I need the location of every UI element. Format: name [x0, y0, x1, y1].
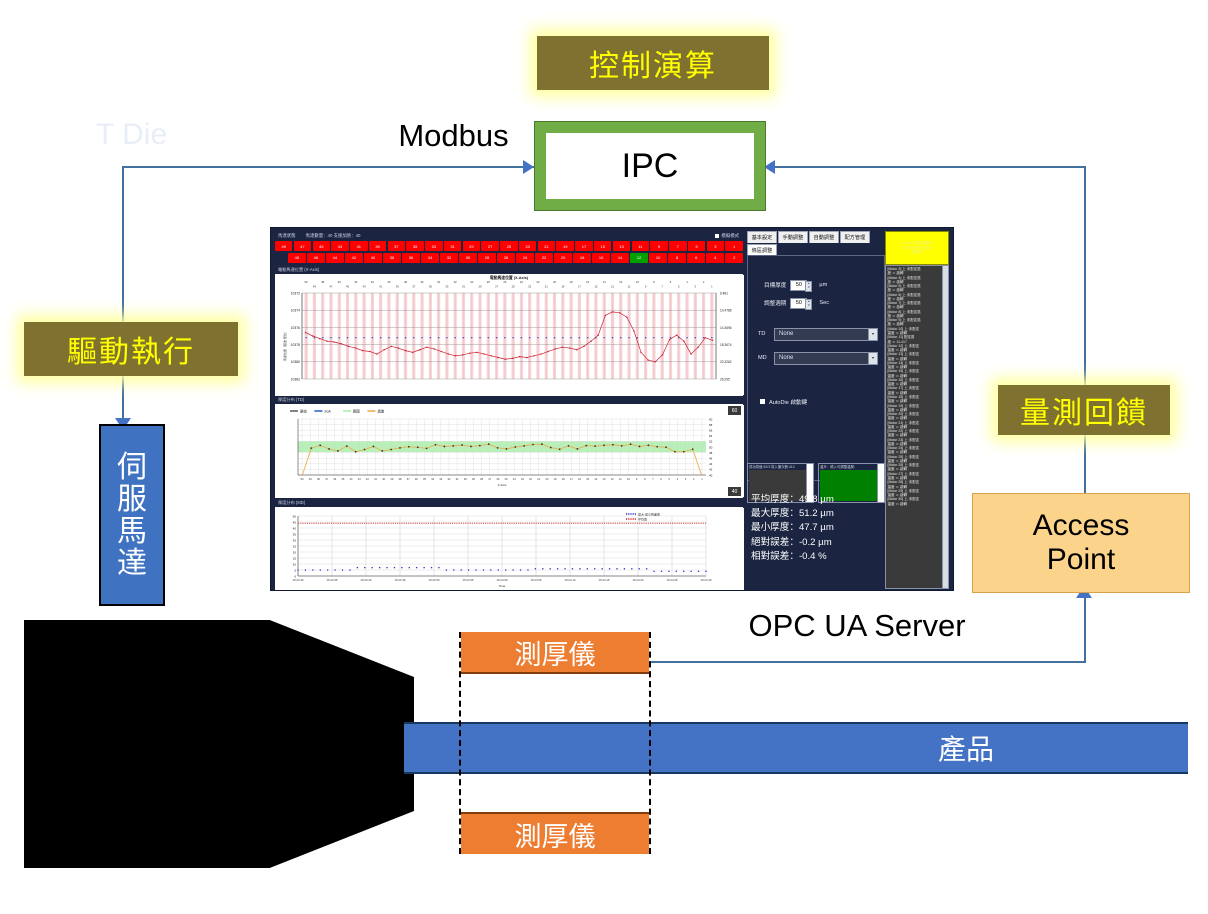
zone-cell[interactable]: 28 — [478, 253, 496, 263]
zone-cell[interactable]: 49 — [275, 241, 292, 251]
adjust-period-unit: Sec — [819, 300, 829, 306]
servo-char-4: 達 — [117, 548, 147, 580]
zone-cell[interactable]: 21 — [538, 241, 555, 251]
svg-text:15.23.30: 15.23.30 — [293, 578, 304, 582]
svg-text:58: 58 — [709, 423, 713, 427]
adjust-period-stepper[interactable]: ▲▼ — [805, 299, 812, 310]
zone-cell[interactable]: 44 — [326, 253, 344, 263]
zone-cell[interactable]: 39 — [369, 241, 386, 251]
ipc-box[interactable]: IPC — [534, 121, 766, 211]
tab-基本設定[interactable]: 基本設定 — [747, 231, 777, 243]
zone-cell[interactable]: 2 — [725, 253, 743, 263]
alarm-status-scrollbar[interactable] — [877, 464, 884, 502]
zone-cell[interactable]: 15 — [594, 241, 611, 251]
svg-text:10378: 10378 — [291, 343, 301, 347]
access-point-line-2: Point — [1047, 543, 1115, 577]
svg-text:45: 45 — [346, 284, 349, 288]
zone-cell[interactable]: 37 — [388, 241, 405, 251]
svg-text:11: 11 — [628, 284, 631, 288]
svg-text:49: 49 — [313, 284, 316, 288]
zone-cell[interactable]: 45 — [313, 241, 330, 251]
svg-text:10.4786: 10.4786 — [720, 308, 732, 312]
md-select[interactable]: None ▼ — [774, 352, 878, 365]
chart2-ymin-spinner[interactable]: 40 — [728, 487, 741, 496]
svg-text:29: 29 — [479, 284, 482, 288]
zone-cell[interactable]: 14 — [611, 253, 629, 263]
svg-text:15: 15 — [293, 556, 297, 560]
callout-measure-feedback: 量測回饋 — [998, 385, 1170, 435]
svg-text:25: 25 — [293, 544, 297, 548]
servo-char-1: 伺 — [117, 452, 147, 484]
svg-text:43: 43 — [363, 284, 366, 288]
zone-row-even: 4846444240383634323028262422201816141210… — [275, 253, 743, 263]
svg-text:最大-最小的差值: 最大-最小的差值 — [638, 511, 660, 516]
svg-text:33: 33 — [445, 284, 448, 288]
svg-text:範圍: 範圍 — [353, 408, 360, 413]
thickness-gauge-top[interactable]: 測厚儀 — [461, 632, 649, 674]
svg-text:X-Axis: X-Axis — [498, 483, 507, 487]
zone-cell[interactable]: 10 — [649, 253, 667, 263]
md-select-row[interactable]: MD None ▼ — [758, 352, 878, 365]
chart1-title: 電動馬達位置 (X-Axis) — [275, 265, 743, 274]
hmi-header-counts: 馬達數量：40 支援加熱：40 — [306, 233, 361, 239]
zone-cell[interactable]: 41 — [350, 241, 367, 251]
svg-text:42: 42 — [709, 468, 713, 472]
svg-text:35: 35 — [293, 532, 297, 536]
zone-cell[interactable]: 38 — [383, 253, 401, 263]
zone-cell[interactable]: 11 — [632, 241, 649, 251]
svg-text:18.3674: 18.3674 — [720, 343, 732, 347]
ipc-inner-panel: IPC — [546, 133, 754, 199]
callout-control-algorithm: 控制演算 — [537, 36, 769, 90]
svg-text:45: 45 — [293, 520, 297, 524]
zone-cell[interactable]: 26 — [497, 253, 515, 263]
svg-text:15.23.40: 15.23.40 — [361, 578, 372, 582]
svg-text:60: 60 — [709, 417, 713, 421]
zone-cell-grid: 4947454341393735333129272523211917151311… — [275, 240, 743, 265]
hmi-header-left-label: 馬達狀態 — [278, 233, 296, 239]
autodie-checkbox[interactable]: AutoDie 啟動鍵 — [760, 398, 807, 406]
hmi-application-window[interactable]: 馬達狀態 馬達數量：40 支援加熱：40 模擬模式 49474543413937… — [270, 227, 954, 591]
motor-position-chart[interactable]: 電動馬達位置 (X-Axis) 馬達位置（脈波 單位） 對應厚度差 103721… — [275, 274, 743, 396]
td-select-row[interactable]: TD None ▼ — [758, 328, 878, 341]
svg-text:44: 44 — [709, 462, 713, 466]
svg-text:19: 19 — [561, 284, 564, 288]
svg-text:21: 21 — [545, 284, 548, 288]
svg-text:15.24.05: 15.24.05 — [531, 578, 542, 582]
svg-text:10376: 10376 — [291, 325, 301, 329]
zone-cell[interactable]: 24 — [516, 253, 534, 263]
td-select[interactable]: None ▼ — [774, 328, 878, 341]
svg-text:48: 48 — [709, 451, 713, 455]
target-thickness-label: 目標厚度 — [764, 281, 786, 289]
svg-text:15.24.15: 15.24.15 — [599, 578, 610, 582]
svg-text:15.24.20: 15.24.20 — [633, 578, 644, 582]
svg-text:10382: 10382 — [291, 377, 301, 381]
zone-cell[interactable]: 30 — [459, 253, 477, 263]
svg-text:41: 41 — [379, 284, 382, 288]
connector-modbus-vertical — [122, 166, 124, 421]
svg-text:39: 39 — [396, 284, 399, 288]
chart2-plot: 原始SoA範圍過濾4042444648505254565860504948474… — [276, 405, 744, 497]
connector-modbus-horizontal — [122, 166, 534, 168]
statistic-line: 相對誤差：-0.4 % — [751, 550, 834, 564]
svg-text:35: 35 — [429, 284, 432, 288]
thickness-md-chart[interactable]: 0510152025303540455015.23.3015.23.3515.2… — [275, 507, 743, 592]
svg-text:10: 10 — [293, 562, 297, 566]
svg-text:15.24.10: 15.24.10 — [565, 578, 576, 582]
protocol-label-text: Modbus — [398, 118, 508, 154]
svg-text:22.3262: 22.3262 — [720, 360, 732, 364]
svg-text:30: 30 — [293, 538, 297, 542]
connector-opcua-vertical — [1084, 595, 1086, 661]
recipe-status-caption: 成功寫值 62/3 寫入筆次數:412 — [749, 464, 795, 469]
chart3-title: 厚度分布 (MD) — [275, 498, 743, 507]
svg-text:26.295: 26.295 — [720, 377, 730, 381]
zone-cell[interactable]: 46 — [307, 253, 325, 263]
alarm-status-caption: 溫升：燒入可調整溫層： — [820, 464, 857, 469]
chart1-ylabel: 馬達位置（脈波 單位） — [283, 330, 287, 361]
chart3-plot: 0510152025303540455015.23.3015.23.3515.2… — [276, 508, 744, 592]
svg-text:54: 54 — [709, 434, 713, 438]
zone-cell[interactable]: 29 — [463, 241, 480, 251]
zone-cell[interactable]: 22 — [535, 253, 553, 263]
zone-cell[interactable]: 36 — [402, 253, 420, 263]
svg-text:10372: 10372 — [291, 291, 301, 295]
zone-cell[interactable]: 23 — [519, 241, 536, 251]
gauge-label: 測厚儀 — [515, 815, 596, 854]
adjust-period-label: 調整週期 — [764, 299, 786, 307]
hmi-right-column: 基本設定手動調整自動調整配方管理條區調整 目標厚度 50 ▲▼ µm 調整週期 … — [747, 231, 949, 587]
svg-text:Time: Time — [499, 584, 506, 588]
zone-cell[interactable]: 47 — [294, 241, 311, 251]
chart2-ymax-spinner[interactable]: 60 — [728, 406, 741, 415]
autodie-notice-banner: AutoDie 模式啟動中 請勿切換其他頁面 請稍候 — [885, 231, 949, 265]
svg-text:52: 52 — [709, 440, 713, 444]
svg-text:15.23.50: 15.23.50 — [429, 578, 440, 582]
servo-char-2: 服 — [117, 484, 147, 516]
zone-cell[interactable]: 42 — [345, 253, 363, 263]
callout-label: 控制演算 — [589, 41, 717, 85]
zone-cell[interactable]: 12 — [630, 253, 648, 263]
svg-text:50: 50 — [293, 514, 297, 518]
thickness-td-chart[interactable]: 原始SoA範圍過濾4042444648505254565860504948474… — [275, 404, 743, 498]
svg-text:15.23.35: 15.23.35 — [327, 578, 338, 582]
td-label: TD — [758, 331, 770, 337]
target-thickness-unit: µm — [819, 282, 827, 288]
zone-cell[interactable]: 27 — [481, 241, 498, 251]
callout-drive-execution: 驅動執行 — [24, 322, 238, 376]
chevron-down-icon[interactable]: ▼ — [868, 353, 877, 364]
md-value: None — [779, 355, 793, 361]
svg-text:SoA: SoA — [324, 409, 331, 413]
hmi-left-column: 馬達狀態 馬達數量：40 支援加熱：40 模擬模式 49474543413937… — [275, 231, 743, 587]
zone-cell[interactable]: 4 — [706, 253, 724, 263]
zone-cell[interactable]: 17 — [575, 241, 592, 251]
simulation-mode-label: 模擬模式 — [721, 233, 739, 239]
svg-text:47: 47 — [329, 284, 332, 288]
zone-cell[interactable]: 32 — [440, 253, 458, 263]
statistic-line: 最大厚度：51.2 µm — [751, 507, 834, 521]
connector-feedback-horizontal — [775, 166, 1086, 168]
thickness-gauge-bottom[interactable]: 測厚儀 — [461, 812, 649, 854]
svg-text:10380: 10380 — [291, 360, 301, 364]
target-thickness-input[interactable]: 50 ▲▼ — [790, 280, 807, 291]
zone-cell[interactable]: 43 — [331, 241, 348, 251]
svg-text:31: 31 — [462, 284, 465, 288]
diagram-canvas: 控制演算 驅動執行 量測回饋 Modbus OPC UA Server IPC … — [0, 0, 1208, 914]
statistic-line: 最小厚度：47.7 µm — [751, 521, 834, 535]
zone-cell[interactable]: 20 — [554, 253, 572, 263]
target-thickness-field[interactable]: 目標厚度 50 ▲▼ µm — [764, 280, 827, 291]
gauge-label: 測厚儀 — [515, 633, 596, 672]
zone-cell[interactable]: 6 — [687, 253, 705, 263]
svg-text:37: 37 — [412, 284, 415, 288]
adjust-period-field[interactable]: 調整週期 50 ▲▼ Sec — [764, 298, 829, 309]
zone-cell[interactable]: 3 — [707, 241, 724, 251]
zone-row-odd: 4947454341393735333129272523211917151311… — [275, 241, 743, 251]
zone-cell[interactable]: 13 — [613, 241, 630, 251]
svg-text:40: 40 — [293, 526, 297, 530]
autodie-label: AutoDie 啟動鍵 — [769, 398, 807, 406]
svg-text:過濾: 過濾 — [377, 408, 384, 413]
zone-cell[interactable]: 48 — [288, 253, 306, 263]
zone-cell[interactable]: 25 — [500, 241, 517, 251]
ipc-label: IPC — [622, 147, 679, 186]
target-thickness-value: 50 — [796, 282, 802, 288]
adjust-period-input[interactable]: 50 ▲▼ — [790, 298, 807, 309]
connector-feedback-vertical — [1084, 166, 1086, 493]
servo-char-3: 馬 — [117, 516, 147, 548]
zone-cell[interactable]: 34 — [421, 253, 439, 263]
zone-cell[interactable]: 18 — [573, 253, 591, 263]
svg-text:原始: 原始 — [300, 408, 307, 413]
svg-text:13: 13 — [611, 284, 614, 288]
svg-text:6.481: 6.481 — [720, 291, 728, 295]
tab-自動調整[interactable]: 自動調整 — [809, 231, 839, 243]
chevron-down-icon[interactable]: ▼ — [868, 329, 877, 340]
svg-text:17: 17 — [578, 284, 581, 288]
chart2-ymax-value: 60 — [732, 408, 738, 414]
settings-tabstrip[interactable]: 基本設定手動調整自動調整配方管理條區調整 — [747, 231, 883, 256]
tab-配方管理[interactable]: 配方管理 — [840, 231, 870, 243]
callout-label: 量測回饋 — [1020, 388, 1148, 432]
connector-opcua-horizontal — [648, 661, 1086, 663]
product-label: 產品 — [938, 728, 994, 768]
zone-cell[interactable]: 40 — [364, 253, 382, 263]
zone-cell[interactable]: 7 — [669, 241, 686, 251]
svg-text:10374: 10374 — [291, 308, 301, 312]
label-opc-ua-server: OPC UA Server — [712, 605, 1002, 647]
zone-cell[interactable]: 19 — [556, 241, 573, 251]
svg-text:15: 15 — [594, 284, 597, 288]
td-value: None — [779, 331, 793, 337]
settings-panel: 目標厚度 50 ▲▼ µm 調整週期 50 ▲▼ Sec T — [747, 255, 885, 481]
checkbox-icon — [760, 399, 765, 404]
svg-text:56: 56 — [709, 429, 713, 433]
zone-cell[interactable]: 8 — [668, 253, 686, 263]
zone-cell[interactable]: 33 — [425, 241, 442, 251]
svg-text:40: 40 — [709, 473, 713, 477]
svg-text:23: 23 — [528, 284, 531, 288]
md-label: MD — [758, 355, 770, 361]
chart1-inner-title: 電動馬達位置 (X-Axis) — [276, 276, 742, 281]
label-modbus: Modbus — [366, 115, 541, 157]
protocol-label-text: OPC UA Server — [748, 608, 965, 644]
svg-text:15.23.55: 15.23.55 — [463, 578, 474, 582]
svg-text:25: 25 — [512, 284, 515, 288]
zone-cell[interactable]: 16 — [592, 253, 610, 263]
statistic-line: 平均厚度：49.8 µm — [751, 493, 834, 507]
svg-text:14.3696: 14.3696 — [720, 325, 732, 329]
statistic-line: 絕對誤差：-0.2 µm — [751, 536, 834, 550]
svg-text:50: 50 — [709, 445, 713, 449]
log-line: 溫度 ＝ 啟轉 — [886, 502, 948, 506]
access-point-box[interactable]: Access Point — [972, 493, 1190, 593]
svg-text:15.23.45: 15.23.45 — [395, 578, 406, 582]
svg-text:20: 20 — [293, 550, 297, 554]
chart2-ymin-value: 40 — [732, 489, 738, 495]
motor-log-lines: [Motor 3] 上 未配定區度 ＝ 啟轉[Motor 4] 上 未配定區度 … — [886, 266, 948, 506]
zone-cell[interactable]: 1 — [725, 241, 742, 251]
hmi-header-bar: 馬達狀態 馬達數量：40 支援加熱：40 模擬模式 — [275, 231, 743, 240]
t-die-shape — [24, 620, 414, 868]
tab-手動調整[interactable]: 手動調整 — [778, 231, 808, 243]
servo-motor-box[interactable]: 伺 服 馬 達 — [99, 424, 165, 606]
zone-cell[interactable]: 9 — [650, 241, 667, 251]
svg-text:15.24.30: 15.24.30 — [701, 578, 712, 582]
thickness-statistics: 平均厚度：49.8 µm最大厚度：51.2 µm最小厚度：47.7 µm絕對誤差… — [751, 493, 834, 564]
motor-event-log[interactable]: [Motor 3] 上 未配定區度 ＝ 啟轉[Motor 4] 上 未配定區度 … — [885, 265, 949, 589]
notice-line-3: 請稍候 — [912, 250, 923, 255]
simulation-mode-checkbox[interactable]: 模擬模式 — [715, 233, 743, 239]
checkbox-icon — [715, 234, 719, 238]
adjust-period-value: 50 — [796, 300, 802, 306]
svg-text:27: 27 — [495, 284, 498, 288]
access-point-line-1: Access — [1033, 509, 1130, 543]
svg-text:平均值: 平均值 — [638, 516, 647, 521]
zone-cell[interactable]: 35 — [406, 241, 423, 251]
svg-text:46: 46 — [709, 457, 713, 461]
t-die-label: T Die — [96, 118, 167, 152]
target-thickness-stepper[interactable]: ▲▼ — [805, 281, 812, 292]
arrow-to-ipc-left — [523, 160, 534, 174]
zone-cell[interactable]: 5 — [688, 241, 705, 251]
svg-text:15.24.00: 15.24.00 — [497, 578, 508, 582]
zone-cell[interactable]: 31 — [444, 241, 461, 251]
motor-log-scrollbar[interactable] — [942, 266, 948, 588]
svg-text:15.24.25: 15.24.25 — [667, 578, 678, 582]
chart1-plot: 1037210374103761037810380103826.48110.47… — [276, 275, 744, 395]
callout-label: 驅動執行 — [67, 327, 195, 371]
